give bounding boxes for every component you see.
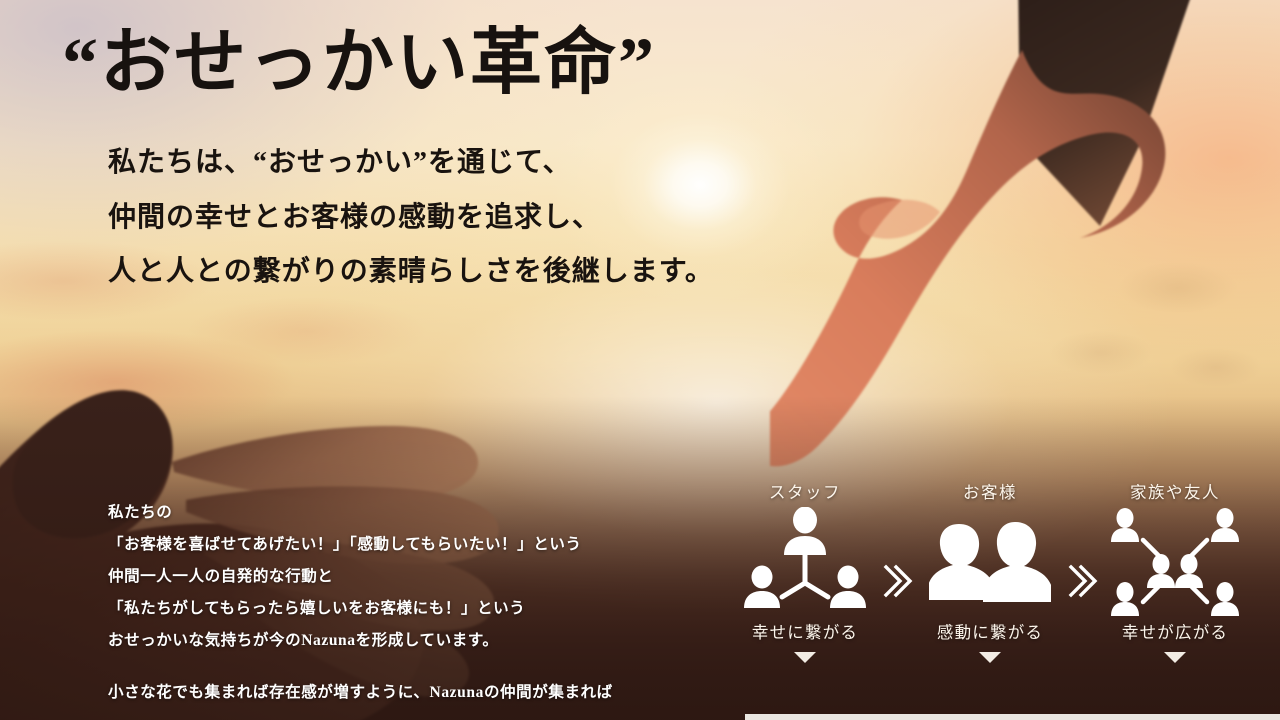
- two-people-icon: [920, 504, 1060, 622]
- page-title: “おせっかい革命”: [62, 27, 656, 99]
- flow-step-bottom-label: 幸せに繋がる: [735, 622, 875, 644]
- flow-step-top-label: 家族や友人: [1105, 482, 1245, 504]
- flow-step-bottom-label: 感動に繋がる: [920, 622, 1060, 644]
- body-line: 小さな花でも集まれば存在感が増すように、Nazunaの仲間が集まれば: [108, 677, 613, 709]
- down-triangle-icon: [794, 652, 816, 663]
- body-line: 「私たちがしてもらったら嬉しいをお客様にも！」という: [108, 593, 613, 625]
- down-triangle-icon: [979, 652, 1001, 663]
- body-line: 仲間一人一人の自発的な行動と: [108, 561, 613, 593]
- staff-network-icon: [735, 504, 875, 622]
- family-network-icon: [1105, 504, 1245, 622]
- subtitle-line: 仲間の幸せとお客様の感動を追求し、: [108, 191, 714, 246]
- bottom-divider-strip: [745, 714, 1280, 720]
- flow-step-family: 家族や友人: [1105, 482, 1245, 663]
- body-line: 私たちの: [108, 497, 613, 529]
- flow-step-customer: お客様 感動に繋がる: [920, 482, 1060, 663]
- subtitle-line: 私たちは、“おせっかい”を通じて、: [108, 136, 714, 191]
- subtitle-line: 人と人との繋がりの素晴らしさを後継します。: [108, 245, 714, 300]
- flow-step-staff: スタッフ: [735, 482, 875, 663]
- double-chevron-icon: [1068, 560, 1098, 602]
- flow-step-top-label: スタッフ: [735, 482, 875, 504]
- hero-banner: “おせっかい革命” 私たちは、“おせっかい”を通じて、 仲間の幸せとお客様の感動…: [0, 0, 1280, 720]
- body-copy: 私たちの 「お客様を喜ばせてあげたい！」「感動してもらいたい！」という 仲間一人…: [108, 497, 613, 709]
- flow-separator: [1060, 482, 1105, 602]
- flow-step-top-label: お客様: [920, 482, 1060, 504]
- value-flow-diagram: スタッフ: [735, 482, 1245, 712]
- flow-step-bottom-label: 幸せが広がる: [1105, 622, 1245, 644]
- double-chevron-icon: [883, 560, 913, 602]
- body-line: おせっかいな気持ちが今のNazunaを形成しています。: [108, 625, 613, 657]
- hero-subtitle: 私たちは、“おせっかい”を通じて、 仲間の幸せとお客様の感動を追求し、 人と人と…: [108, 136, 714, 300]
- down-triangle-icon: [1164, 652, 1186, 663]
- body-line: 「お客様を喜ばせてあげたい！」「感動してもらいたい！」という: [108, 529, 613, 561]
- flow-separator: [875, 482, 920, 602]
